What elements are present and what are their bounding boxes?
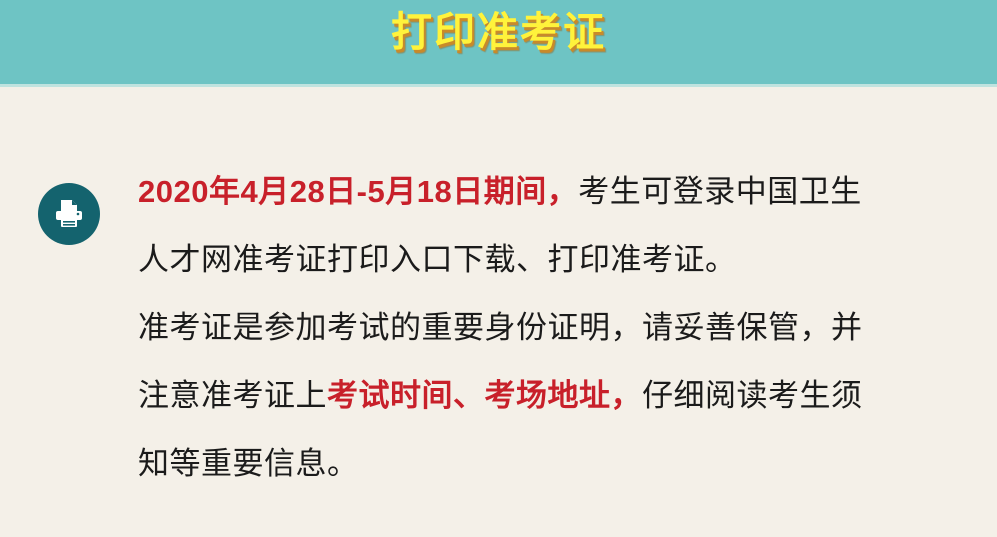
text-line-1-rest: 考生可登录中国卫生 <box>578 174 862 209</box>
page-title: 打印准考证 <box>0 7 997 58</box>
page-root: 打印准考证 2020年4月28日-5月18日期间，考生可登录中国卫生 人才网准考… <box>0 0 997 537</box>
paragraph-registration-window: 2020年4月28日-5月18日期间，考生可登录中国卫生 人才网准考证打印入口下… <box>138 158 970 294</box>
text-line-3: 准考证是参加考试的重要身份证明，请妥善保管，并 <box>138 310 863 345</box>
text-line-4-suffix: 仔细阅读考生须 <box>642 378 863 413</box>
text-line-5: 知等重要信息。 <box>138 446 359 481</box>
text-line-2: 人才网准考证打印入口下载、打印准考证。 <box>138 242 737 277</box>
printer-icon <box>38 183 100 245</box>
header-underline <box>0 84 997 87</box>
paragraph-admission-ticket-notice: 准考证是参加考试的重要身份证明，请妥善保管，并 注意准考证上考试时间、考场地址，… <box>138 294 970 498</box>
text-line-1: 2020年4月28日-5月18日期间，考生可登录中国卫生 <box>138 174 862 209</box>
highlight-date-range: 2020年4月28日-5月18日期间， <box>138 174 578 209</box>
text-line-4: 注意准考证上考试时间、考场地址，仔细阅读考生须 <box>138 378 863 413</box>
highlight-exam-time-and-venue: 考试时间、考场地址， <box>327 378 642 413</box>
announcement-text: 2020年4月28日-5月18日期间，考生可登录中国卫生 人才网准考证打印入口下… <box>138 158 970 498</box>
text-line-4-prefix: 注意准考证上 <box>138 378 327 413</box>
